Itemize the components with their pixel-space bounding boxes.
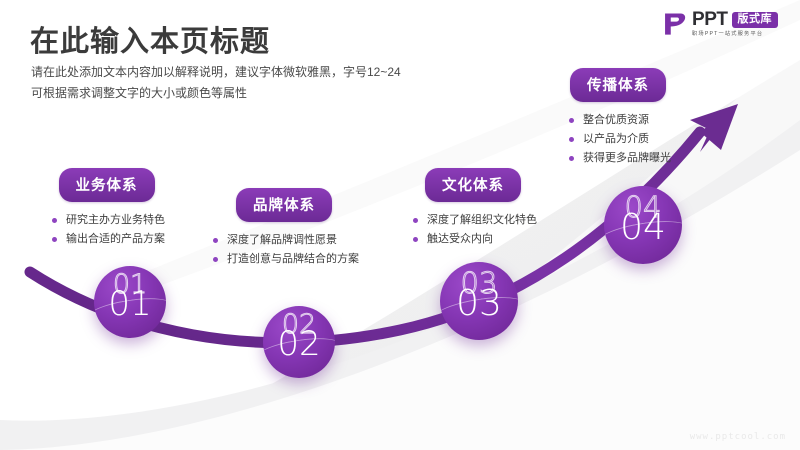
step-bullets-01: 研究主办方业务特色 输出合适的产品方案 — [48, 211, 165, 249]
step-badge-02[interactable]: 品牌体系 — [236, 188, 332, 222]
logo-badge: 版式库 — [732, 12, 779, 28]
page-subtitle: 请在此处添加文本内容加以解释说明，建议字体微软雅黑，字号12~24 可根据需求调… — [31, 62, 401, 104]
step-bullets-04: 整合优质资源 以产品为介质 获得更多品牌曝光 — [565, 111, 671, 168]
list-item: 获得更多品牌曝光 — [565, 149, 671, 168]
step-badge-01[interactable]: 业务体系 — [59, 168, 155, 202]
step-bullets-03: 深度了解组织文化特色 触达受众内向 — [409, 211, 537, 249]
logo-name: PPT — [692, 10, 727, 29]
list-item: 输出合适的产品方案 — [48, 230, 165, 249]
list-item: 整合优质资源 — [565, 111, 671, 130]
step-bullets-02: 深度了解品牌调性愿景 打造创意与品牌结合的方案 — [209, 231, 359, 269]
step-card-02: 品牌体系 深度了解品牌调性愿景 打造创意与品牌结合的方案 — [209, 188, 359, 269]
step-card-03: 文化体系 深度了解组织文化特色 触达受众内向 — [409, 168, 537, 249]
step-card-04: 传播体系 整合优质资源 以产品为介质 获得更多品牌曝光 — [565, 68, 671, 168]
step-number: 04 — [604, 207, 682, 248]
list-item: 深度了解组织文化特色 — [409, 211, 537, 230]
step-node-02[interactable]: 02 02 — [263, 306, 335, 378]
watermark: www.pptcool.com — [690, 432, 786, 442]
step-card-01: 业务体系 研究主办方业务特色 输出合适的产品方案 — [48, 168, 165, 249]
step-badge-03[interactable]: 文化体系 — [425, 168, 521, 202]
brand-logo: PPT 版式库 职场PPT一站式服务平台 — [661, 10, 778, 37]
list-item: 深度了解品牌调性愿景 — [209, 231, 359, 250]
step-node-04[interactable]: 04 04 — [604, 186, 682, 264]
logo-tagline: 职场PPT一站式服务平台 — [692, 32, 763, 37]
step-badge-04[interactable]: 传播体系 — [570, 68, 666, 102]
list-item: 触达受众内向 — [409, 230, 537, 249]
ppt-logo-icon — [661, 11, 687, 37]
step-node-03[interactable]: 03 03 — [440, 262, 518, 340]
step-number: 01 — [94, 284, 166, 324]
step-node-01[interactable]: 01 01 — [94, 266, 166, 338]
step-number: 02 — [263, 324, 335, 364]
list-item: 以产品为介质 — [565, 130, 671, 149]
page-title: 在此输入本页标题 — [30, 18, 270, 60]
list-item: 打造创意与品牌结合的方案 — [209, 250, 359, 269]
step-number: 03 — [440, 283, 518, 324]
slide-canvas: 在此输入本页标题 请在此处添加文本内容加以解释说明，建议字体微软雅黑，字号12~… — [0, 0, 800, 450]
list-item: 研究主办方业务特色 — [48, 211, 165, 230]
